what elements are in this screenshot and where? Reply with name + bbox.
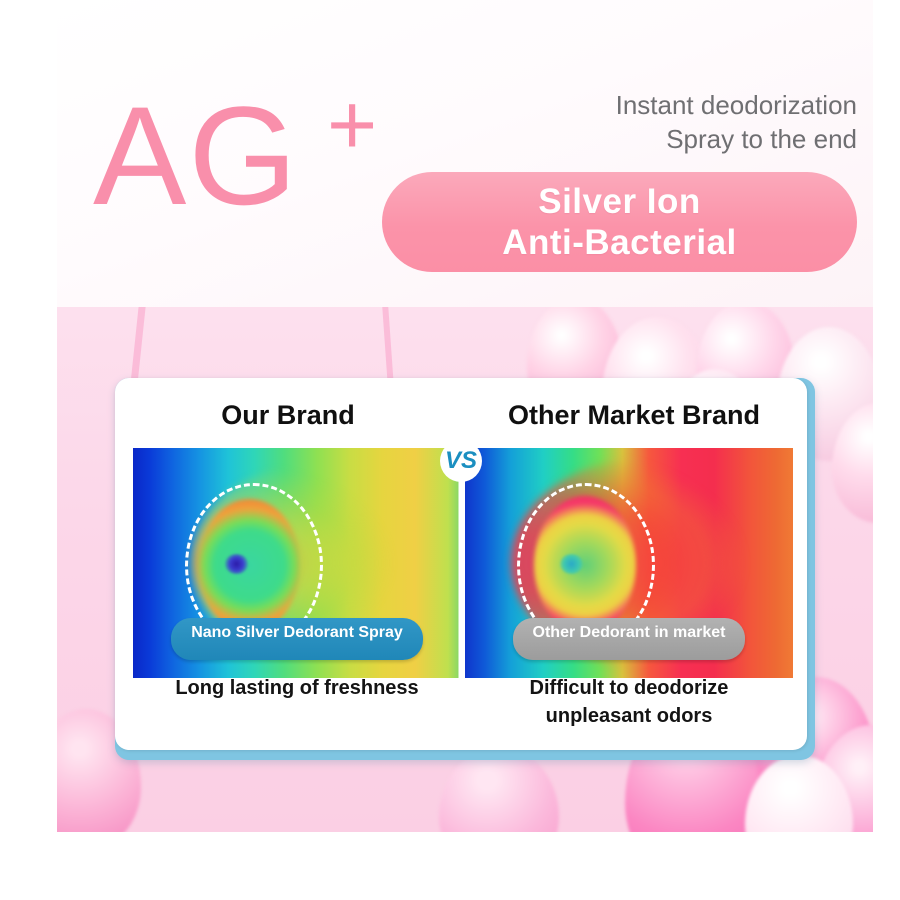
header-section: AG + Instant deodorization Spray to the …	[57, 0, 873, 307]
caption-left-line-1: Long lasting of freshness	[133, 674, 461, 702]
caption-right-line-1: Difficult to deodorize	[465, 674, 793, 702]
our-brand-title: Our Brand	[115, 398, 461, 438]
badge-cell-right: Other Dedorant in market	[465, 618, 793, 660]
brand-logo-plus-icon: +	[327, 82, 377, 168]
caption-right: Difficult to deodorize unpleasant odors	[465, 674, 793, 730]
badge-cell-left: Nano Silver Dedorant Spray	[133, 618, 461, 660]
other-deodorant-badge: Other Dedorant in market	[513, 618, 746, 660]
tagline-line-1: Instant deodorization	[437, 88, 857, 122]
vs-badge: VS	[440, 440, 482, 482]
comparison-card-body: Our Brand Other Market Brand	[115, 378, 807, 750]
other-brand-title: Other Market Brand	[461, 398, 807, 438]
ad-creative-page: AG + Instant deodorization Spray to the …	[0, 0, 900, 900]
claim-badge: Silver Ion Anti-Bacterial	[382, 172, 857, 272]
caption-left: Long lasting of freshness	[133, 674, 461, 730]
claim-line-1: Silver Ion	[538, 181, 701, 222]
tagline-line-2: Spray to the end	[437, 122, 857, 156]
header-tagline: Instant deodorization Spray to the end	[437, 88, 857, 156]
thermal-badges-row: Nano Silver Dedorant Spray Other Dedoran…	[133, 618, 793, 660]
captions-row: Long lasting of freshness Difficult to d…	[133, 674, 793, 730]
comparison-card: Our Brand Other Market Brand	[115, 378, 815, 760]
brand-logo-text: AG	[93, 86, 299, 226]
nano-silver-badge: Nano Silver Dedorant Spray	[171, 618, 423, 660]
creative-canvas: AG + Instant deodorization Spray to the …	[57, 0, 873, 832]
claim-line-2: Anti-Bacterial	[502, 222, 737, 263]
comparison-titles-row: Our Brand Other Market Brand	[115, 398, 807, 438]
caption-right-line-2: unpleasant odors	[465, 702, 793, 730]
